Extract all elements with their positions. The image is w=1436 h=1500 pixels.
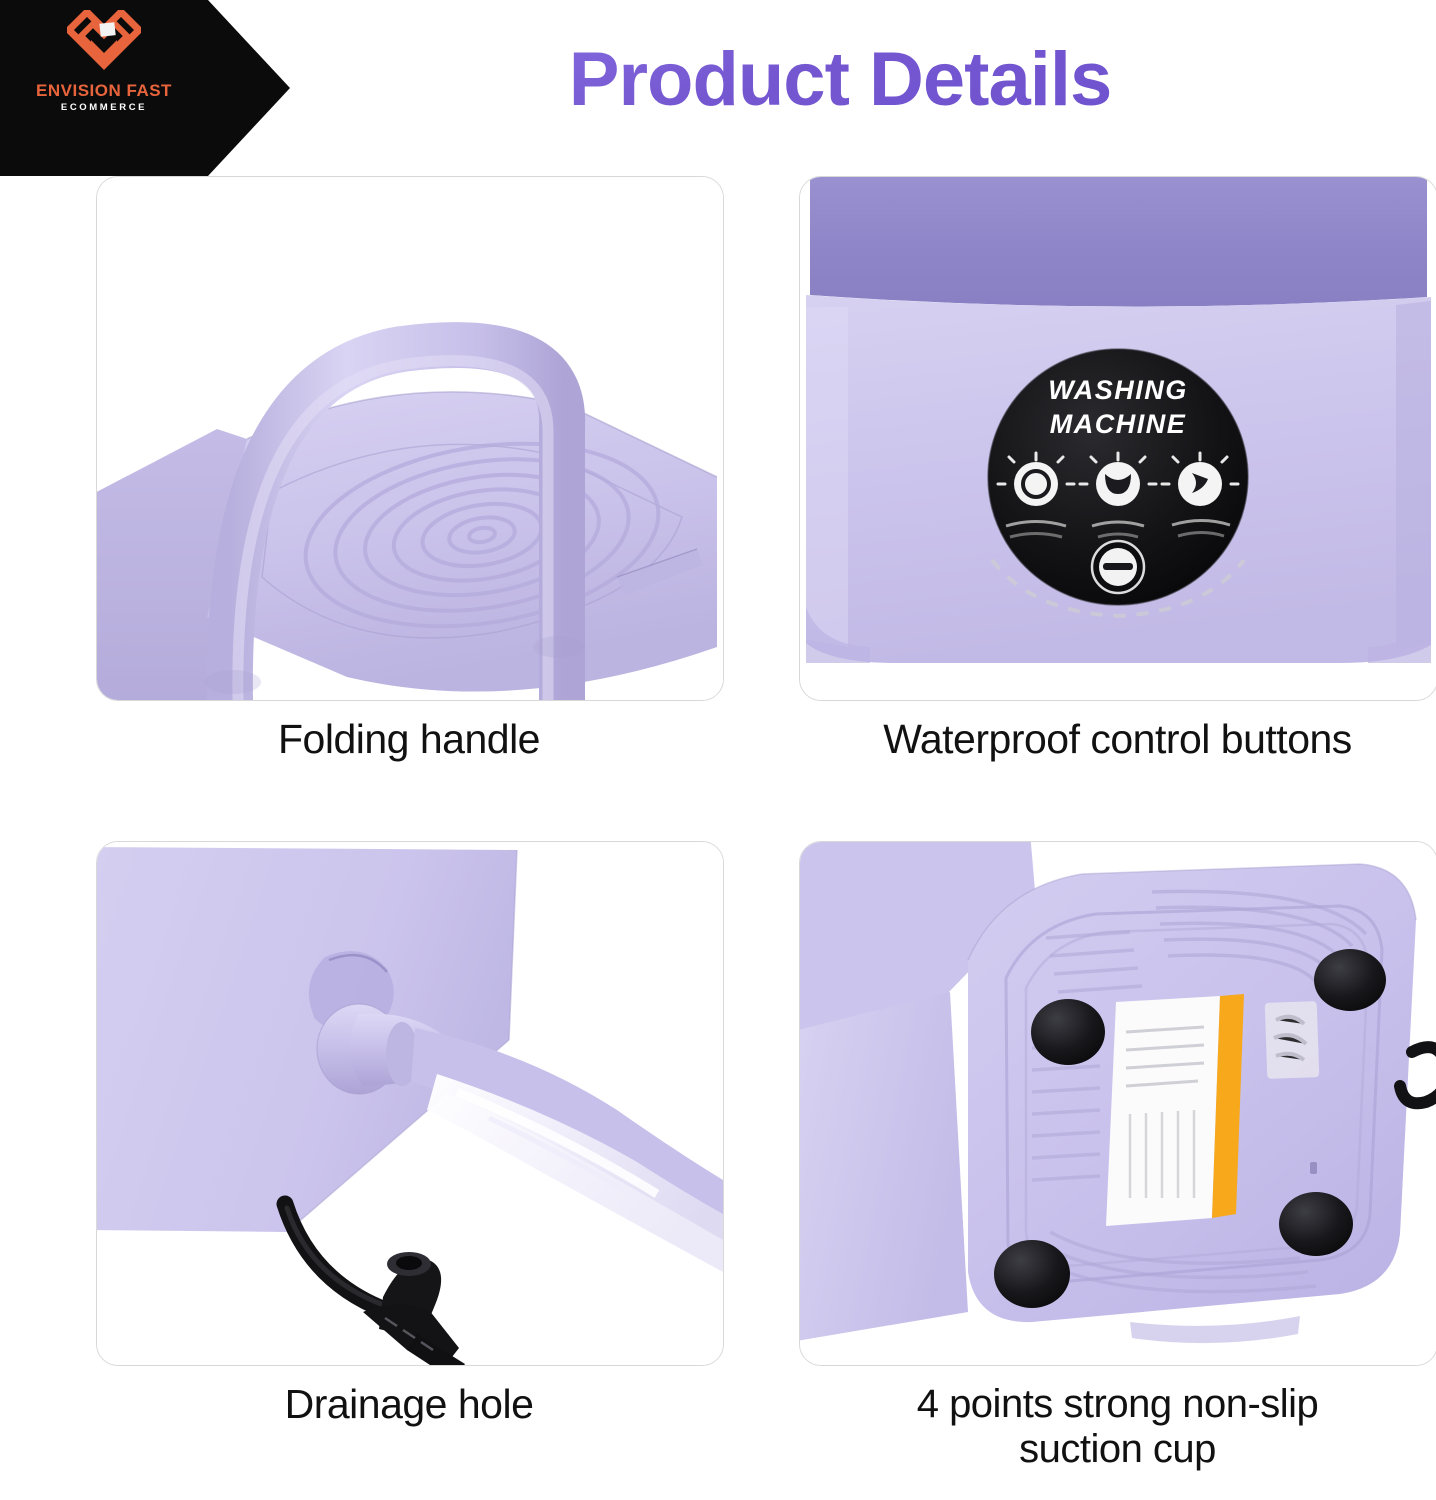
caption-line-1: 4 points strong non-slip	[799, 1382, 1436, 1427]
photo-control-buttons: WASHING MACHINE	[799, 176, 1436, 701]
suction-cup	[1031, 999, 1105, 1065]
drainage-hole-illustration	[97, 842, 723, 1365]
svg-text:WASHING: WASHING	[1048, 375, 1188, 405]
caption-folding-handle: Folding handle	[96, 717, 722, 763]
photo-drainage-hole	[96, 841, 724, 1366]
suction-cup	[1314, 949, 1386, 1011]
panel-drainage-hole: Drainage hole	[96, 841, 724, 1428]
caption-suction-cup: 4 points strong non-slip suction cup	[799, 1382, 1436, 1472]
suction-cup	[1279, 1192, 1353, 1256]
caption-line-2: suction cup	[799, 1427, 1436, 1472]
caption-control-buttons: Waterproof control buttons	[799, 717, 1436, 763]
panel-waterproof-control-buttons: WASHING MACHINE	[799, 176, 1436, 763]
suction-cup-illustration	[800, 842, 1436, 1365]
product-detail-grid: Folding handle	[0, 0, 1436, 1500]
panel-suction-cup: 4 points strong non-slip suction cup	[799, 841, 1436, 1472]
rating-label	[1106, 994, 1244, 1226]
suction-cup	[994, 1240, 1070, 1308]
svg-text:MACHINE: MACHINE	[1050, 409, 1187, 439]
caption-drainage-hole: Drainage hole	[96, 1382, 722, 1428]
photo-suction-cup	[799, 841, 1436, 1366]
qr-sticker	[1265, 1001, 1320, 1079]
folding-handle-illustration	[97, 177, 723, 700]
photo-folding-handle	[96, 176, 724, 701]
control-panel-illustration: WASHING MACHINE	[800, 177, 1436, 700]
panel-folding-handle: Folding handle	[96, 176, 724, 763]
